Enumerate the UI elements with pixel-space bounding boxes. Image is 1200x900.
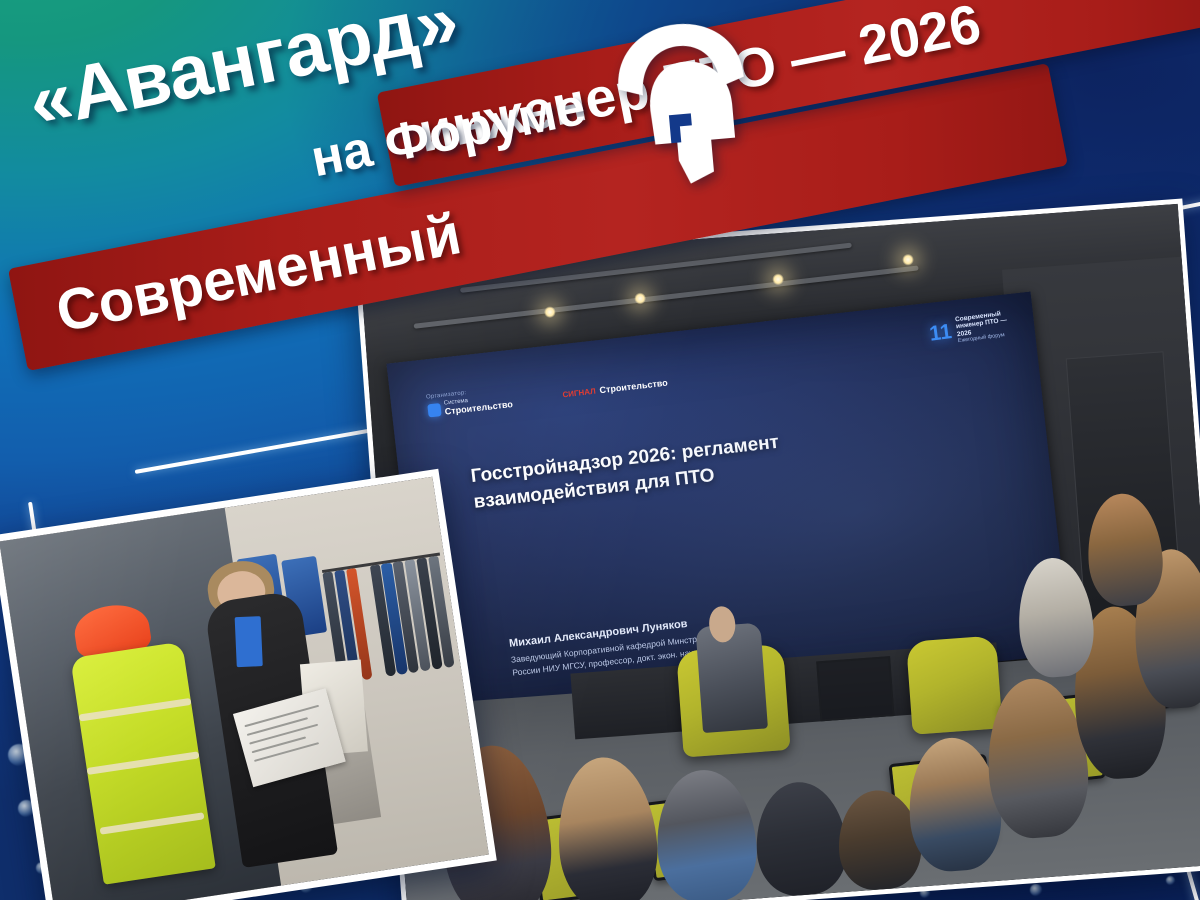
forum-badge-number: 11: [929, 322, 954, 346]
partner-logo: СИГНАЛ Строительство: [562, 378, 668, 400]
forum-badge-line-4: Ежегодный форум: [958, 333, 1010, 346]
forum-badge-line-3: 2026: [957, 325, 1009, 339]
organizer-caption: Организатор:: [426, 386, 512, 401]
organizer-mark-icon: [427, 403, 441, 417]
partner-name: Строительство: [599, 378, 668, 396]
stage-side-table: [817, 656, 895, 721]
organizer-logo: Организатор: Система Строительство: [426, 386, 514, 419]
speaker-figure: [695, 623, 768, 733]
attendee-lanyard: [235, 616, 263, 667]
forum-badge-line-1: Современный: [955, 310, 1007, 324]
empty-armchair: [906, 635, 1003, 734]
slide-title-line-2: взаимодействия для ПТО: [473, 432, 997, 516]
forum-badge: 11 Современный инженер ПТО — 2026 Ежегод…: [928, 310, 1009, 349]
poster-canvas: 11 Современный инженер ПТО — 2026 Ежегод…: [0, 0, 1200, 900]
expo-photo: [0, 477, 489, 900]
partner-mark: СИГНАЛ: [562, 387, 596, 400]
organizer-name-small: Система: [444, 394, 513, 408]
organizer-name-big: Строительство: [445, 400, 514, 417]
slide-title-line-1: Госстройнадзор 2026: регламент: [470, 406, 994, 490]
expo-scene: [0, 477, 489, 900]
forum-badge-line-2: инженер ПТО —: [956, 318, 1008, 332]
slide-title: Госстройнадзор 2026: регламент взаимодей…: [470, 406, 997, 515]
expo-photo-card: [0, 469, 497, 900]
